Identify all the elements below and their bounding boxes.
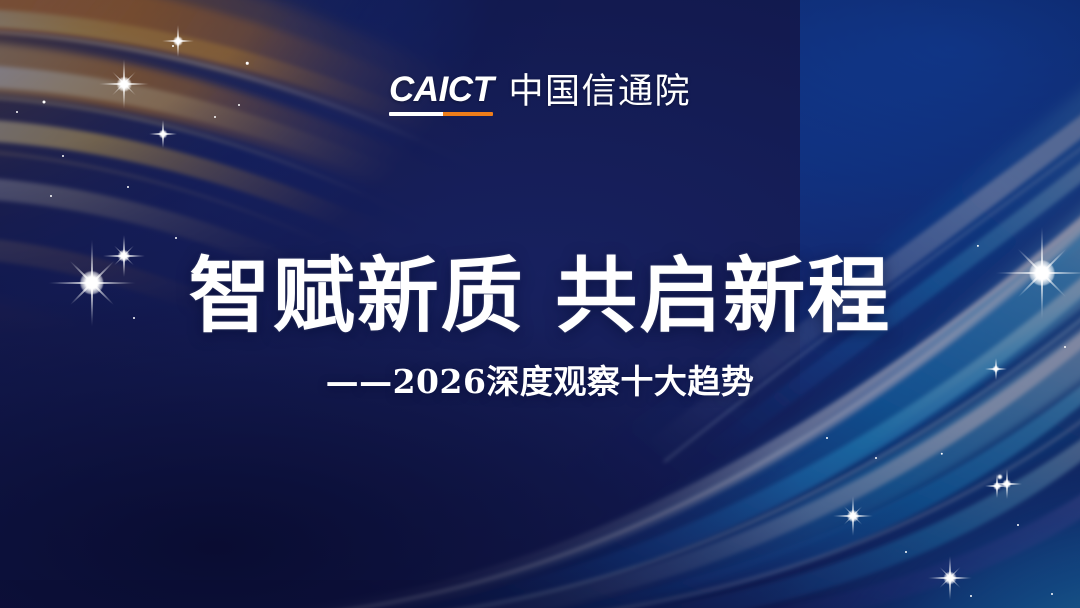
slide-title: 智赋新质 共启新程 xyxy=(0,251,1080,343)
rule-segment-orange xyxy=(443,112,493,116)
caict-logo: CAICT 中国信通院 xyxy=(0,72,1080,116)
slide-canvas: CAICT 中国信通院 智赋新质 共启新程 ——2026深度观察十大趋势 xyxy=(0,0,1080,608)
caict-wordmark-block: CAICT xyxy=(389,72,493,116)
slide-subtitle: ——2026深度观察十大趋势 xyxy=(0,355,1080,403)
caict-wordmark: CAICT xyxy=(389,72,493,112)
caict-underline-rule xyxy=(389,112,493,116)
rule-segment-white xyxy=(389,112,443,116)
caict-chinese-name: 中国信通院 xyxy=(508,75,691,116)
slide-content: CAICT 中国信通院 智赋新质 共启新程 ——2026深度观察十大趋势 xyxy=(0,0,1080,608)
